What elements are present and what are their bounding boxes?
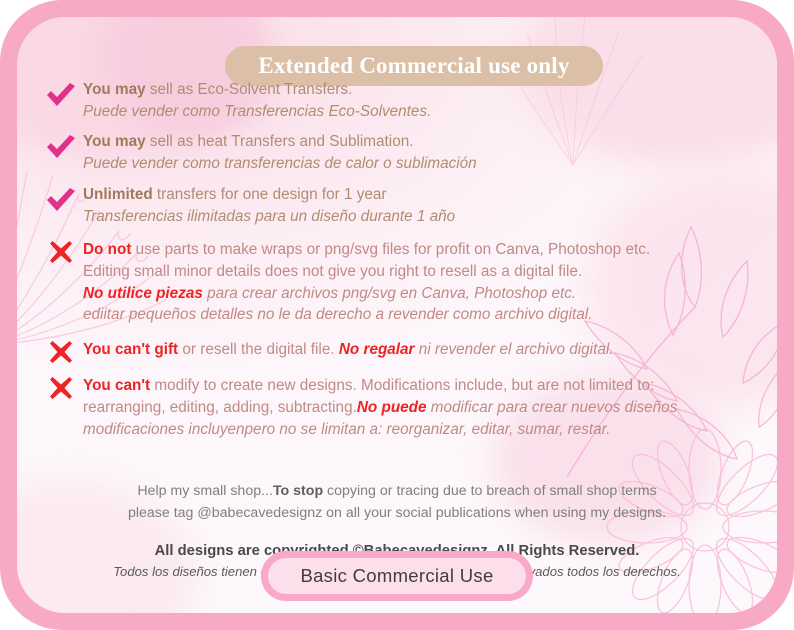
rule-text-run: para crear archivos png/svg en Canva, Ph… xyxy=(203,285,576,302)
rule-line: Unlimited transfers for one design for 1… xyxy=(83,184,753,206)
rule-text-run: You can't gift xyxy=(83,341,178,358)
rule-line: You may sell as heat Transfers and Subli… xyxy=(83,131,753,153)
rule-text-run: Transferencias ilimitadas para un diseño… xyxy=(83,208,455,225)
rule-text-run: modify to create new designs. Modificati… xyxy=(150,377,654,394)
license-card: Extended Commercial use only You may sel… xyxy=(0,0,794,630)
license-card-inner: Extended Commercial use only You may sel… xyxy=(17,17,777,613)
rule-line: You can't gift or resell the digital fil… xyxy=(83,339,753,361)
rule-text: You may sell as Eco-Solvent Transfers.Pu… xyxy=(83,78,753,122)
rule-item: You may sell as heat Transfers and Subli… xyxy=(39,130,753,174)
cross-icon xyxy=(39,338,83,363)
rule-item: Unlimited transfers for one design for 1… xyxy=(39,183,753,227)
check-icon xyxy=(39,183,83,213)
rule-text-run: or resell the digital file. xyxy=(178,341,339,358)
footer-help-b: To stop xyxy=(273,483,323,499)
rule-text: Do not use parts to make wraps or png/sv… xyxy=(83,238,753,326)
rule-text: You may sell as heat Transfers and Subli… xyxy=(83,130,753,174)
rule-item: Do not use parts to make wraps or png/sv… xyxy=(39,238,753,326)
rule-text-run: No puede xyxy=(357,399,427,416)
cross-icon xyxy=(39,374,83,399)
rule-line: rearranging, editing, adding, subtractin… xyxy=(83,397,753,419)
rule-text-run: modificar para crear nuevos diseños xyxy=(427,399,678,416)
rule-text-run: rearranging, editing, adding, subtractin… xyxy=(83,399,357,416)
rule-line: Transferencias ilimitadas para un diseño… xyxy=(83,206,753,228)
rule-line: Editing small minor details does not giv… xyxy=(83,261,753,283)
rule-text-run: Unlimited xyxy=(83,186,153,203)
check-icon xyxy=(39,78,83,108)
rule-text-run: sell as Eco-Solvent Transfers. xyxy=(146,81,353,98)
rule-line: You may sell as Eco-Solvent Transfers. xyxy=(83,79,753,101)
rule-item: You may sell as Eco-Solvent Transfers.Pu… xyxy=(39,78,753,122)
rule-text: You can't gift or resell the digital fil… xyxy=(83,338,753,361)
rule-line: No utilice piezas para crear archivos pn… xyxy=(83,283,753,305)
page-title: Extended Commercial use only xyxy=(258,53,569,79)
cross-icon xyxy=(39,238,83,263)
rule-text-run: You can't xyxy=(83,377,150,394)
rule-line: Do not use parts to make wraps or png/sv… xyxy=(83,239,753,261)
rule-item: You can't gift or resell the digital fil… xyxy=(39,338,753,363)
rule-item: You can't modify to create new designs. … xyxy=(39,374,753,440)
rules-list: You may sell as Eco-Solvent Transfers.Pu… xyxy=(39,78,753,440)
rule-text-run: You may xyxy=(83,133,146,150)
basic-commercial-use-pill[interactable]: Basic Commercial Use xyxy=(261,551,533,601)
rule-text-run: Do not xyxy=(83,241,131,258)
rule-text-run: You may xyxy=(83,81,146,98)
rule-line: modificaciones incluyenpero no se limita… xyxy=(83,419,753,441)
rule-text-run: ediitar pequeños detalles no le da derec… xyxy=(83,306,592,323)
footer-help-c: copying or tracing due to breach of smal… xyxy=(323,483,657,499)
rule-text-run: Puede vender como transferencias de calo… xyxy=(83,155,477,172)
rule-line: Puede vender como Transferencias Eco-Sol… xyxy=(83,101,753,123)
rule-text-run: modificaciones incluyenpero no se limita… xyxy=(83,421,610,438)
footer-help-line-2: please tag @babecavedesignz on all your … xyxy=(17,503,777,525)
rule-text-run: No regalar xyxy=(339,341,415,358)
rule-text: You can't modify to create new designs. … xyxy=(83,374,753,440)
basic-commercial-use-label: Basic Commercial Use xyxy=(300,565,493,587)
rule-line: You can't modify to create new designs. … xyxy=(83,375,753,397)
rule-text-run: ni revender el archivo digital. xyxy=(415,341,614,358)
footer-help-line-1: Help my small shop...To stop copying or … xyxy=(17,481,777,503)
rule-text-run: use parts to make wraps or png/svg files… xyxy=(131,241,650,258)
rule-text-run: Puede vender como Transferencias Eco-Sol… xyxy=(83,103,431,120)
rule-text: Unlimited transfers for one design for 1… xyxy=(83,183,753,227)
rule-text-run: No utilice piezas xyxy=(83,285,203,302)
rule-text-run: transfers for one design for 1 year xyxy=(153,186,387,203)
rule-text-run: Editing small minor details does not giv… xyxy=(83,263,582,280)
rule-line: ediitar pequeños detalles no le da derec… xyxy=(83,304,753,326)
rule-text-run: sell as heat Transfers and Sublimation. xyxy=(146,133,414,150)
rule-line: Puede vender como transferencias de calo… xyxy=(83,153,753,175)
check-icon xyxy=(39,130,83,160)
footer-help-a: Help my small shop... xyxy=(137,483,273,499)
